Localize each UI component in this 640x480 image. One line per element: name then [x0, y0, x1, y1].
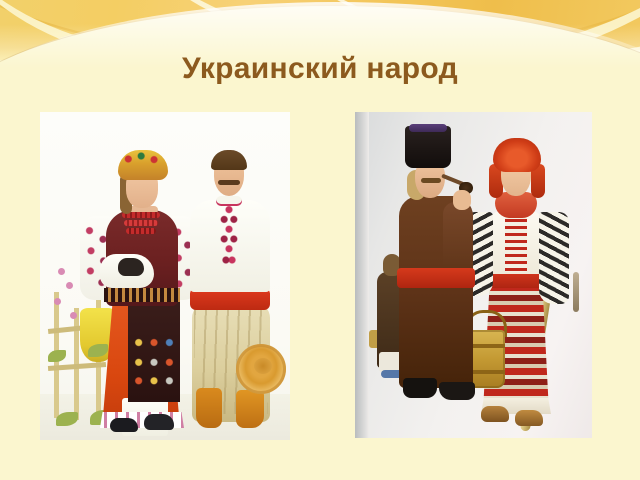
hanging-ornament-icon — [573, 272, 579, 312]
blossom-icon — [66, 282, 73, 289]
woman-red-headdress — [493, 138, 541, 172]
woman-shoe-right — [144, 414, 174, 430]
woman-apron-embroidery — [130, 328, 178, 394]
man-mustache — [421, 178, 441, 183]
book-page-spine — [355, 112, 369, 438]
woman-shoe-left — [110, 418, 138, 432]
woman-coral-necklace — [124, 220, 158, 226]
woman-shoe-left — [481, 406, 509, 422]
man-mustache — [218, 180, 240, 185]
woman-shoe-right — [515, 410, 543, 426]
woman-vest-trim — [104, 288, 180, 302]
page-title: Украинский народ — [0, 52, 640, 86]
woman-bundle-dark-detail — [118, 258, 144, 276]
man-shirt-embroidery — [218, 204, 240, 274]
woman-chemise-embroidery — [505, 212, 527, 272]
man-boot-left — [196, 388, 222, 428]
man-hand — [453, 190, 471, 210]
blossom-icon — [58, 268, 65, 275]
ukrainian-couple-right-image — [355, 112, 592, 438]
man-shirt-collar — [216, 196, 242, 206]
straw-hat-crown — [254, 358, 272, 374]
ukrainian-couple-left-image — [40, 112, 290, 440]
woman-headdress-flowers — [120, 150, 166, 170]
papakha-hat-icon — [405, 126, 451, 168]
papakha-hat-top — [409, 124, 447, 132]
woman-coral-necklace — [126, 228, 156, 234]
man-boot-left — [403, 378, 437, 398]
man-boot-right — [236, 390, 264, 428]
man-red-sash — [397, 268, 475, 288]
blossom-icon — [54, 298, 61, 305]
blossom-icon — [70, 312, 77, 319]
presentation-slide: Украинский народ — [0, 0, 640, 480]
man-boot-right — [439, 382, 475, 400]
woman-striped-shawl-right — [539, 212, 569, 304]
